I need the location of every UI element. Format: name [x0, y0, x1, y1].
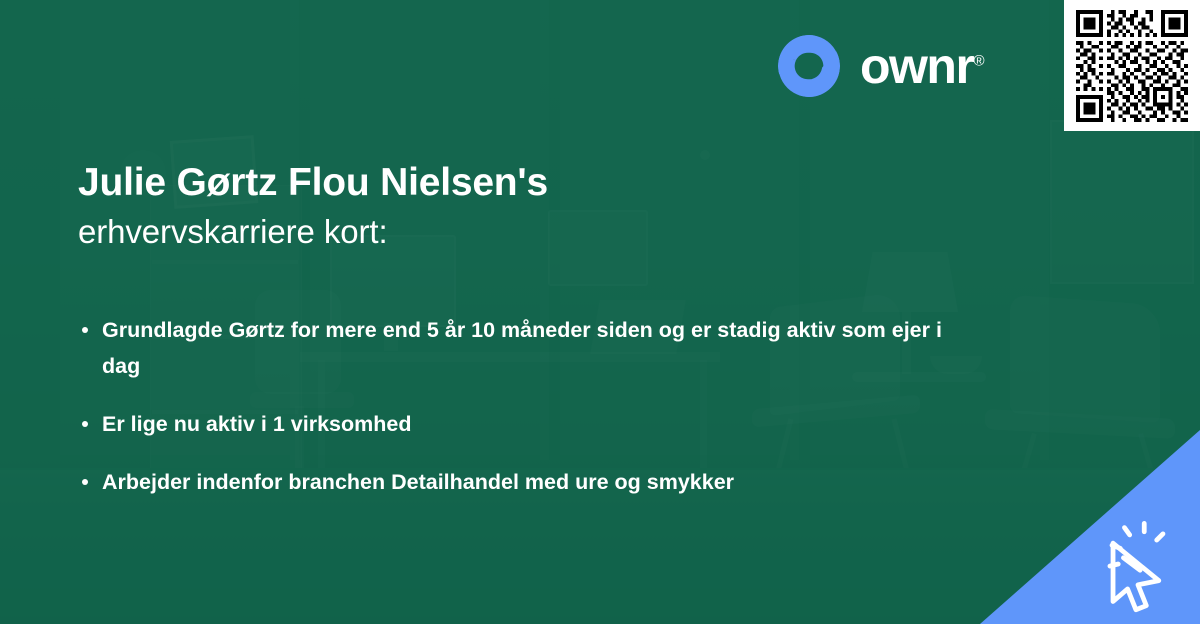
list-item-text: Arbejder indenfor branchen Detailhandel …: [102, 470, 734, 494]
brand-wordmark: ownr®: [860, 41, 985, 91]
headline-name: Julie Gørtz Flou Nielsen's: [78, 158, 778, 208]
page-title: Julie Gørtz Flou Nielsen's erhvervskarri…: [78, 158, 778, 256]
bullet-dot-icon: [82, 327, 88, 333]
ownr-logo-icon: [776, 33, 842, 99]
bullet-dot-icon: [82, 479, 88, 485]
bullet-dot-icon: [82, 421, 88, 427]
promo-card: ownr® Julie Gørtz Flou Nielsen's erhverv…: [0, 0, 1200, 624]
list-item-text: Grundlagde Gørtz for mere end 5 år 10 må…: [102, 318, 942, 378]
brand-name: ownr: [860, 38, 973, 94]
registered-trademark-icon: ®: [973, 52, 984, 69]
qr-code[interactable]: [1076, 10, 1188, 122]
list-item: Grundlagde Gørtz for mere end 5 år 10 må…: [80, 312, 960, 384]
list-item-text: Er lige nu aktiv i 1 virksomhed: [102, 412, 411, 436]
career-fact-list: Grundlagde Gørtz for mere end 5 år 10 må…: [80, 312, 960, 522]
list-item: Arbejder indenfor branchen Detailhandel …: [80, 464, 960, 500]
qr-code-panel[interactable]: [1064, 0, 1200, 131]
brand-lockup: ownr®: [776, 33, 985, 99]
list-item: Er lige nu aktiv i 1 virksomhed: [80, 406, 960, 442]
click-cursor-icon: [1086, 512, 1190, 616]
headline-subtitle: erhvervskarriere kort:: [78, 208, 778, 256]
